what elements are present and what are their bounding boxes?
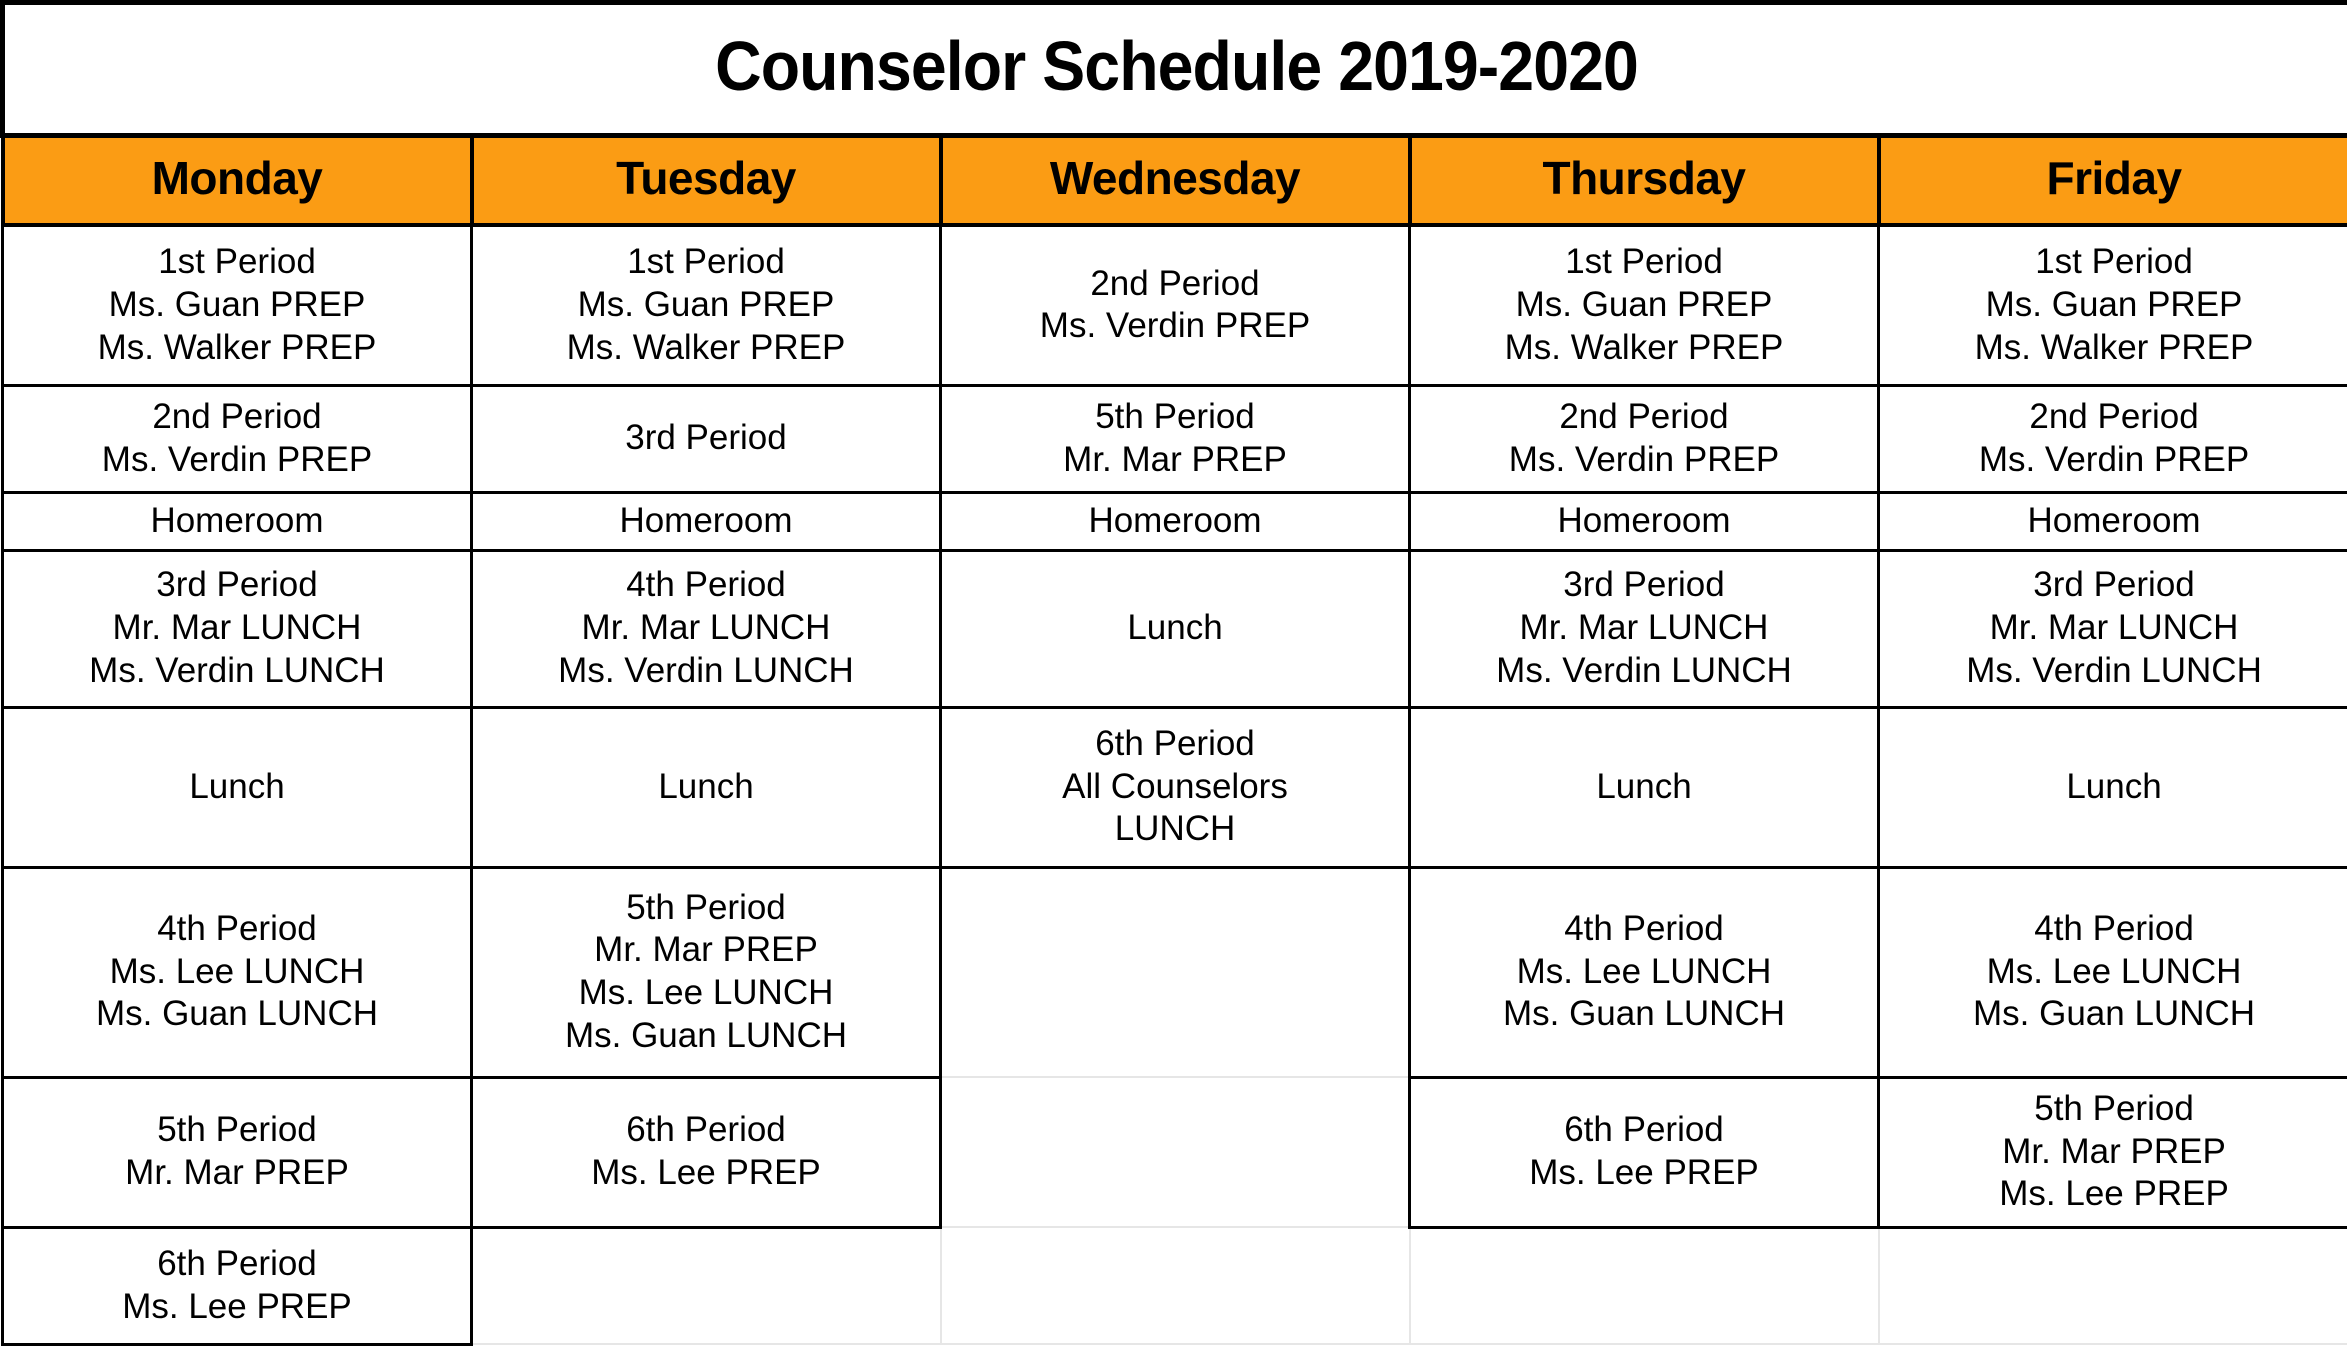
schedule-cell-friday-4[interactable]: 3rd PeriodMr. Mar LUNCHMs. Verdin LUNCH <box>1879 550 2347 707</box>
schedule-cell-friday-1[interactable]: 1st PeriodMs. Guan PREPMs. Walker PREP <box>1879 225 2347 385</box>
schedule-row: 5th PeriodMr. Mar PREP6th PeriodMs. Lee … <box>3 1077 2347 1227</box>
schedule-cell-line: 6th Period <box>1417 1109 1871 1152</box>
schedule-cell-line: Homeroom <box>10 500 464 543</box>
schedule-cell-line: 4th Period <box>10 908 464 951</box>
schedule-cell-monday-3[interactable]: Homeroom <box>3 492 472 550</box>
title-row: Counselor Schedule 2019-2020 <box>3 3 2347 136</box>
schedule-row: 6th PeriodMs. Lee PREP <box>3 1227 2347 1344</box>
schedule-cell-monday-5[interactable]: Lunch <box>3 707 472 867</box>
schedule-cell-line: Homeroom <box>479 500 933 543</box>
schedule-cell-thursday-1[interactable]: 1st PeriodMs. Guan PREPMs. Walker PREP <box>1410 225 1879 385</box>
schedule-row: HomeroomHomeroomHomeroomHomeroomHomeroom <box>3 492 2347 550</box>
schedule-cell-line: Mr. Mar PREP <box>948 439 1402 482</box>
schedule-cell-line: Ms. Guan PREP <box>1417 284 1871 327</box>
schedule-cell-monday-4[interactable]: 3rd PeriodMr. Mar LUNCHMs. Verdin LUNCH <box>3 550 472 707</box>
schedule-table-body: 1st PeriodMs. Guan PREPMs. Walker PREP1s… <box>3 225 2347 1344</box>
schedule-cell-wednesday-4[interactable]: Lunch <box>941 550 1410 707</box>
schedule-cell-line: 4th Period <box>1417 908 1871 951</box>
schedule-cell-tuesday-7[interactable]: 6th PeriodMs. Lee PREP <box>472 1077 941 1227</box>
schedule-cell-line: Ms. Verdin LUNCH <box>1417 650 1871 693</box>
schedule-cell-line: 2nd Period <box>10 396 464 439</box>
schedule-cell-wednesday-6[interactable] <box>941 867 1410 1077</box>
schedule-cell-line: 3rd Period <box>1417 564 1871 607</box>
schedule-cell-thursday-3[interactable]: Homeroom <box>1410 492 1879 550</box>
schedule-cell-wednesday-1[interactable]: 2nd PeriodMs. Verdin PREP <box>941 225 1410 385</box>
schedule-cell-line: 6th Period <box>10 1243 464 1286</box>
schedule-cell-line: 4th Period <box>479 564 933 607</box>
schedule-cell-line: Ms. Walker PREP <box>1886 327 2342 370</box>
schedule-cell-line: Ms. Lee LUNCH <box>1886 951 2342 994</box>
schedule-cell-line: Lunch <box>1417 766 1871 809</box>
schedule-cell-line: 1st Period <box>1417 241 1871 284</box>
schedule-cell-tuesday-6[interactable]: 5th PeriodMr. Mar PREPMs. Lee LUNCHMs. G… <box>472 867 941 1077</box>
schedule-cell-monday-2[interactable]: 2nd PeriodMs. Verdin PREP <box>3 385 472 492</box>
schedule-cell-thursday-5[interactable]: Lunch <box>1410 707 1879 867</box>
schedule-cell-line: 2nd Period <box>1417 396 1871 439</box>
schedule-cell-line: All Counselors <box>948 766 1402 809</box>
schedule-cell-line: Ms. Walker PREP <box>1417 327 1871 370</box>
schedule-cell-line: Ms. Walker PREP <box>10 327 464 370</box>
schedule-cell-line: Mr. Mar PREP <box>10 1152 464 1195</box>
schedule-cell-wednesday-5[interactable]: 6th PeriodAll CounselorsLUNCH <box>941 707 1410 867</box>
schedule-cell-tuesday-4[interactable]: 4th PeriodMr. Mar LUNCHMs. Verdin LUNCH <box>472 550 941 707</box>
schedule-cell-line: Mr. Mar LUNCH <box>10 607 464 650</box>
schedule-cell-friday-3[interactable]: Homeroom <box>1879 492 2347 550</box>
schedule-row: LunchLunch6th PeriodAll CounselorsLUNCHL… <box>3 707 2347 867</box>
schedule-cell-line: Ms. Walker PREP <box>479 327 933 370</box>
schedule-cell-monday-1[interactable]: 1st PeriodMs. Guan PREPMs. Walker PREP <box>3 225 472 385</box>
schedule-cell-line: LUNCH <box>948 808 1402 851</box>
schedule-cell-line: Ms. Verdin PREP <box>1886 439 2342 482</box>
schedule-cell-friday-6[interactable]: 4th PeriodMs. Lee LUNCHMs. Guan LUNCH <box>1879 867 2347 1077</box>
schedule-cell-line: Lunch <box>10 766 464 809</box>
schedule-row: 2nd PeriodMs. Verdin PREP3rd Period5th P… <box>3 385 2347 492</box>
schedule-cell-thursday-4[interactable]: 3rd PeriodMr. Mar LUNCHMs. Verdin LUNCH <box>1410 550 1879 707</box>
schedule-cell-tuesday-3[interactable]: Homeroom <box>472 492 941 550</box>
schedule-cell-line: Ms. Lee LUNCH <box>479 972 933 1015</box>
counselor-schedule-page: Counselor Schedule 2019-2020 MondayTuesd… <box>0 0 2347 1322</box>
schedule-cell-line: 6th Period <box>948 723 1402 766</box>
schedule-cell-thursday-7[interactable]: 6th PeriodMs. Lee PREP <box>1410 1077 1879 1227</box>
schedule-cell-wednesday-3[interactable]: Homeroom <box>941 492 1410 550</box>
counselor-schedule-table: Counselor Schedule 2019-2020 MondayTuesd… <box>0 0 2347 1346</box>
day-header-monday: Monday <box>3 136 472 226</box>
schedule-row: 3rd PeriodMr. Mar LUNCHMs. Verdin LUNCH4… <box>3 550 2347 707</box>
schedule-cell-line: Mr. Mar PREP <box>479 929 933 972</box>
day-header-wednesday: Wednesday <box>941 136 1410 226</box>
schedule-cell-tuesday-5[interactable]: Lunch <box>472 707 941 867</box>
schedule-cell-line: Ms. Verdin LUNCH <box>10 650 464 693</box>
schedule-cell-line: Ms. Verdin PREP <box>1417 439 1871 482</box>
schedule-cell-wednesday-8[interactable] <box>941 1227 1410 1344</box>
schedule-cell-line: 1st Period <box>10 241 464 284</box>
day-header-thursday: Thursday <box>1410 136 1879 226</box>
schedule-cell-line: Mr. Mar LUNCH <box>1886 607 2342 650</box>
schedule-cell-line: Mr. Mar LUNCH <box>479 607 933 650</box>
schedule-cell-friday-7[interactable]: 5th PeriodMr. Mar PREPMs. Lee PREP <box>1879 1077 2347 1227</box>
schedule-cell-line: 5th Period <box>1886 1088 2342 1131</box>
day-header-tuesday: Tuesday <box>472 136 941 226</box>
schedule-cell-line: Mr. Mar PREP <box>1886 1131 2342 1174</box>
schedule-table-head: Counselor Schedule 2019-2020 MondayTuesd… <box>3 3 2347 226</box>
schedule-cell-tuesday-2[interactable]: 3rd Period <box>472 385 941 492</box>
schedule-cell-line: 2nd Period <box>948 263 1402 306</box>
schedule-cell-line: Ms. Guan LUNCH <box>1417 993 1871 1036</box>
schedule-cell-line: 5th Period <box>948 396 1402 439</box>
schedule-cell-thursday-8[interactable] <box>1410 1227 1879 1344</box>
schedule-cell-tuesday-1[interactable]: 1st PeriodMs. Guan PREPMs. Walker PREP <box>472 225 941 385</box>
schedule-cell-line: Homeroom <box>1417 500 1871 543</box>
schedule-cell-line: 3rd Period <box>1886 564 2342 607</box>
schedule-cell-friday-2[interactable]: 2nd PeriodMs. Verdin PREP <box>1879 385 2347 492</box>
schedule-cell-line: Ms. Lee LUNCH <box>10 951 464 994</box>
schedule-cell-line: Ms. Guan LUNCH <box>479 1015 933 1058</box>
schedule-cell-line: Ms. Guan LUNCH <box>10 993 464 1036</box>
schedule-cell-line: Mr. Mar LUNCH <box>1417 607 1871 650</box>
page-title: Counselor Schedule 2019-2020 <box>3 3 2347 136</box>
schedule-cell-line: 1st Period <box>1886 241 2342 284</box>
schedule-row: 4th PeriodMs. Lee LUNCHMs. Guan LUNCH5th… <box>3 867 2347 1077</box>
schedule-cell-monday-8[interactable]: 6th PeriodMs. Lee PREP <box>3 1227 472 1344</box>
schedule-cell-line: 5th Period <box>479 887 933 930</box>
schedule-cell-line: Ms. Lee PREP <box>1417 1152 1871 1195</box>
schedule-cell-wednesday-7[interactable] <box>941 1077 1410 1227</box>
schedule-cell-line: Ms. Lee LUNCH <box>1417 951 1871 994</box>
schedule-cell-line: Lunch <box>948 607 1402 650</box>
schedule-cell-line: Ms. Verdin PREP <box>948 305 1402 348</box>
schedule-cell-monday-6[interactable]: 4th PeriodMs. Lee LUNCHMs. Guan LUNCH <box>3 867 472 1077</box>
schedule-cell-line: Homeroom <box>1886 500 2342 543</box>
schedule-cell-line: 6th Period <box>479 1109 933 1152</box>
schedule-cell-line: 1st Period <box>479 241 933 284</box>
schedule-cell-line: Ms. Lee PREP <box>479 1152 933 1195</box>
schedule-cell-line: Ms. Verdin PREP <box>10 439 464 482</box>
schedule-cell-friday-8[interactable] <box>1879 1227 2347 1344</box>
schedule-cell-line: Ms. Guan PREP <box>479 284 933 327</box>
schedule-cell-line: 3rd Period <box>479 417 933 460</box>
schedule-cell-tuesday-8[interactable] <box>472 1227 941 1344</box>
day-header-row: MondayTuesdayWednesdayThursdayFriday <box>3 136 2347 226</box>
schedule-cell-line: 4th Period <box>1886 908 2342 951</box>
schedule-cell-thursday-6[interactable]: 4th PeriodMs. Lee LUNCHMs. Guan LUNCH <box>1410 867 1879 1077</box>
schedule-cell-line: Ms. Guan PREP <box>1886 284 2342 327</box>
schedule-cell-line: Ms. Guan LUNCH <box>1886 993 2342 1036</box>
schedule-cell-wednesday-2[interactable]: 5th PeriodMr. Mar PREP <box>941 385 1410 492</box>
schedule-cell-friday-5[interactable]: Lunch <box>1879 707 2347 867</box>
schedule-cell-line: 5th Period <box>10 1109 464 1152</box>
day-header-friday: Friday <box>1879 136 2347 226</box>
schedule-cell-line: Homeroom <box>948 500 1402 543</box>
page-title-text: Counselor Schedule 2019-2020 <box>99 31 2255 101</box>
schedule-cell-line: Ms. Lee PREP <box>1886 1173 2342 1216</box>
schedule-cell-line: 3rd Period <box>10 564 464 607</box>
schedule-cell-line: Ms. Verdin LUNCH <box>479 650 933 693</box>
schedule-cell-line: Ms. Verdin LUNCH <box>1886 650 2342 693</box>
schedule-cell-line: Lunch <box>479 766 933 809</box>
schedule-cell-thursday-2[interactable]: 2nd PeriodMs. Verdin PREP <box>1410 385 1879 492</box>
schedule-cell-line: Ms. Guan PREP <box>10 284 464 327</box>
schedule-cell-line: Lunch <box>1886 766 2342 809</box>
schedule-row: 1st PeriodMs. Guan PREPMs. Walker PREP1s… <box>3 225 2347 385</box>
schedule-cell-monday-7[interactable]: 5th PeriodMr. Mar PREP <box>3 1077 472 1227</box>
schedule-cell-line: 2nd Period <box>1886 396 2342 439</box>
